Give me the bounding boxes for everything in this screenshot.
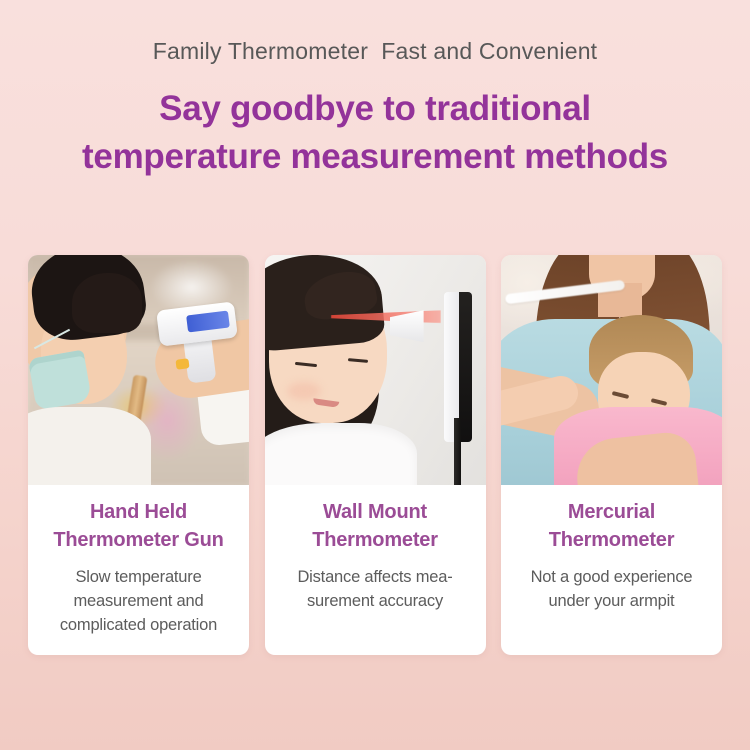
headline-line-1: Say goodbye to traditional	[0, 85, 750, 133]
card-wall-mount-thermometer[interactable]: Wall Mount Thermometer Distance affects …	[265, 255, 486, 655]
card-desc-line-3: complicated operation	[38, 613, 239, 637]
card-desc-line-1: Not a good experience	[511, 565, 712, 589]
card-title-line-2: Thermometer Gun	[38, 527, 239, 555]
card-description-hand-held: Slow temperature measurement and complic…	[38, 565, 239, 637]
card-description-wall-mount: Distance affects mea- surement accuracy	[275, 565, 476, 613]
card-title-mercurial: Mercurial Thermometer	[511, 499, 712, 554]
card-desc-line-1: Distance affects mea-	[275, 565, 476, 589]
card-title-hand-held: Hand Held Thermometer Gun	[38, 499, 239, 554]
child-body	[28, 407, 151, 485]
card-title-line-1: Wall Mount	[275, 499, 476, 527]
photo-mercurial-thermometer	[501, 255, 722, 485]
comparison-card-list: Hand Held Thermometer Gun Slow temperatu…	[28, 255, 722, 655]
child-hair-front	[72, 273, 142, 333]
card-title-line-1: Mercurial	[511, 499, 712, 527]
card-title-line-2: Thermometer	[275, 527, 476, 555]
card-desc-line-2: measurement and	[38, 589, 239, 613]
card-mercurial-thermometer[interactable]: Mercurial Thermometer Not a good experie…	[501, 255, 722, 655]
wall-thermometer-stand	[454, 418, 461, 485]
card-hand-held-thermometer-gun[interactable]: Hand Held Thermometer Gun Slow temperatu…	[28, 255, 249, 655]
card-text-hand-held: Hand Held Thermometer Gun Slow temperatu…	[28, 485, 249, 655]
page-header: Family Thermometer Fast and Convenient S…	[0, 0, 750, 182]
card-text-wall-mount: Wall Mount Thermometer Distance affects …	[265, 485, 486, 655]
card-desc-line-1: Slow temperature	[38, 565, 239, 589]
card-title-wall-mount: Wall Mount Thermometer	[275, 499, 476, 554]
page-title: Say goodbye to traditional temperature m…	[0, 85, 750, 182]
card-desc-line-2: under your armpit	[511, 589, 712, 613]
photo-wall-mount-thermometer	[265, 255, 486, 485]
card-title-line-2: Thermometer	[511, 527, 712, 555]
card-text-mercurial: Mercurial Thermometer Not a good experie…	[501, 485, 722, 655]
card-title-line-1: Hand Held	[38, 499, 239, 527]
photo-hand-held-thermometer-gun	[28, 255, 249, 485]
girl-shirt	[265, 423, 417, 485]
eyebrow-text: Family Thermometer Fast and Convenient	[0, 38, 750, 65]
card-desc-line-2: surement accuracy	[275, 589, 476, 613]
headline-line-2: temperature measurement methods	[0, 133, 750, 181]
card-description-mercurial: Not a good experience under your armpit	[511, 565, 712, 613]
girl-cheek-blush	[287, 382, 321, 400]
thermometer-gun-trigger	[176, 358, 190, 370]
